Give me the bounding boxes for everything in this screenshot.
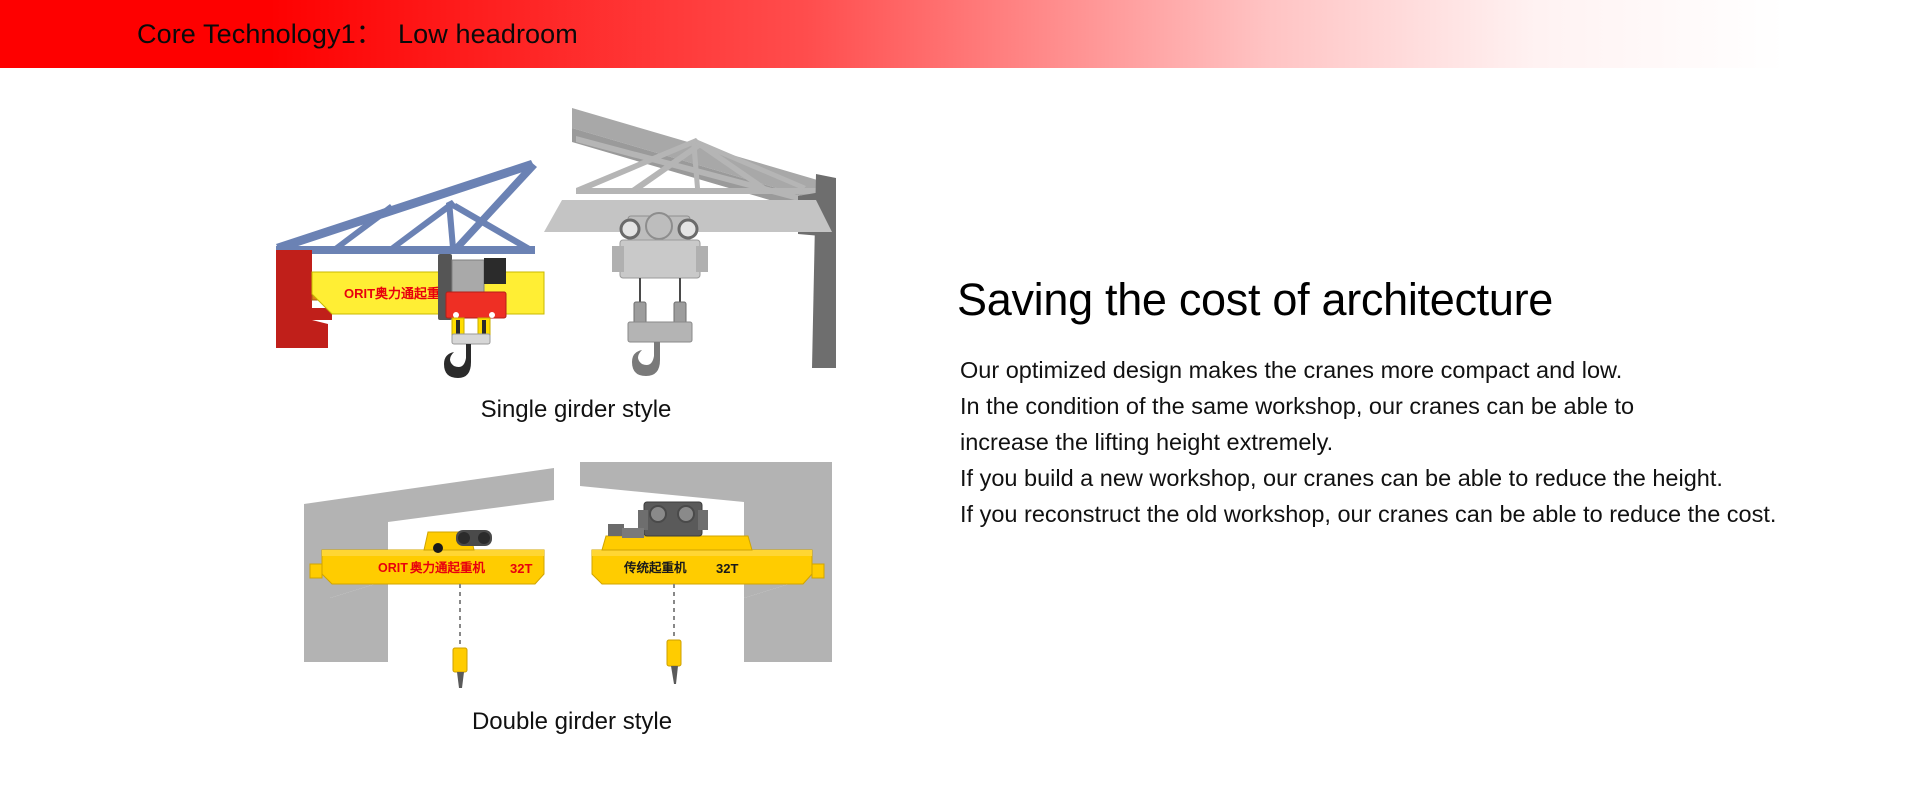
double-girder-caption: Double girder style (292, 708, 852, 736)
description-line-5: If you reconstruct the old workshop, our… (960, 496, 1887, 532)
workshop-wall-right (572, 108, 836, 368)
header-gradient-bar: Core Technology1： Low headroom (0, 0, 1920, 68)
orit-hoist (438, 254, 506, 378)
headline: Saving the cost of architecture (957, 272, 1887, 328)
single-girder-caption: Single girder style (276, 396, 876, 424)
orit-capacity-label: 32T (510, 561, 532, 576)
description-line-4: If you build a new workshop, our cranes … (960, 460, 1887, 496)
single-girder-illustration: ORIT奥力通起重机 (276, 108, 876, 408)
conventional-capacity-label: 32T (716, 561, 738, 576)
double-girder-illustration: ORIT 奥力通起重机 32T 传统起重机 32T (292, 452, 852, 702)
orit-girder-label: 奥力通起重机 (410, 560, 486, 575)
description-line-1: Our optimized design makes the cranes mo… (960, 352, 1887, 388)
description-paragraph: Our optimized design makes the cranes mo… (960, 352, 1887, 532)
description-line-3: increase the lifting height extremely. (960, 424, 1887, 460)
orit-brand-text: ORIT (378, 561, 408, 575)
description-column: Saving the cost of architecture Our opti… (957, 272, 1887, 532)
description-line-2: In the condition of the same workshop, o… (960, 388, 1887, 424)
page-title: Core Technology1： Low headroom (137, 0, 578, 68)
girder-brand-label: ORIT奥力通起重机 (344, 286, 453, 301)
blue-truss (276, 160, 537, 254)
conventional-girder-label: 传统起重机 (623, 560, 687, 575)
conventional-hoist (612, 213, 708, 376)
single-girder-beam: ORIT奥力通起重机 (312, 272, 544, 314)
